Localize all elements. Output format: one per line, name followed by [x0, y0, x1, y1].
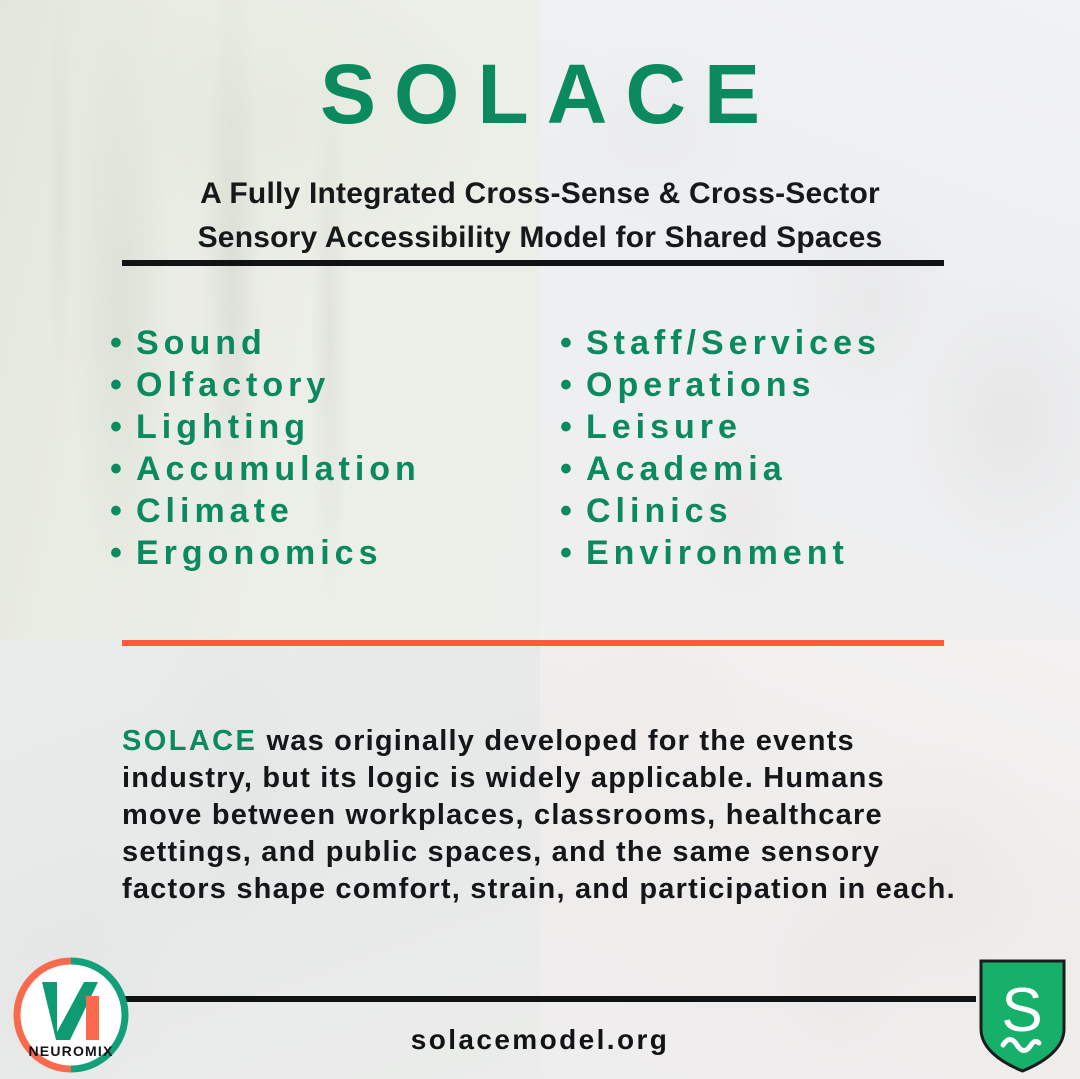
neuromix-logo[interactable]: NEUROMIX: [12, 956, 130, 1074]
neuromix-logo-icon: NEUROMIX: [12, 956, 130, 1074]
list-item-label: Accumulation: [136, 448, 421, 490]
website-url[interactable]: solacemodel.org: [0, 1024, 1080, 1056]
shield-icon: S: [975, 955, 1070, 1075]
list-item: • Lighting: [110, 406, 560, 448]
neuromix-wordmark: NEUROMIX: [28, 1043, 113, 1059]
sensory-factors-column: • Sound • Olfactory • Lighting • Accumul…: [110, 322, 560, 574]
list-item-label: Academia: [586, 448, 787, 490]
list-item-label: Climate: [136, 490, 294, 532]
body-paragraph: SOLACE was originally developed for the …: [122, 723, 962, 908]
bullet-icon: •: [110, 322, 136, 364]
list-item: • Environment: [560, 532, 980, 574]
list-item-label: Staff/Services: [586, 322, 881, 364]
bullet-icon: •: [560, 448, 586, 490]
list-item: • Staff/Services: [560, 322, 980, 364]
list-item-label: Leisure: [586, 406, 742, 448]
list-item: • Sound: [110, 322, 560, 364]
bullet-icon: •: [110, 532, 136, 574]
solace-shield-logo[interactable]: S: [975, 955, 1070, 1075]
bullet-icon: •: [110, 406, 136, 448]
bullet-icon: •: [110, 490, 136, 532]
bullet-icon: •: [560, 532, 586, 574]
subtitle-line-2: Sensory Accessibility Model for Shared S…: [118, 216, 962, 260]
bullet-icon: •: [560, 364, 586, 406]
bullet-icon: •: [110, 448, 136, 490]
list-item: • Clinics: [560, 490, 980, 532]
list-item: • Leisure: [560, 406, 980, 448]
list-item: • Operations: [560, 364, 980, 406]
list-item-label: Sound: [136, 322, 267, 364]
subtitle-line-1: A Fully Integrated Cross-Sense & Cross-S…: [118, 172, 962, 216]
divider-bottom: [118, 996, 976, 1002]
shield-letter: S: [1001, 976, 1042, 1045]
list-item-label: Operations: [586, 364, 815, 406]
list-item-label: Olfactory: [136, 364, 330, 406]
list-item: • Accumulation: [110, 448, 560, 490]
list-item-label: Environment: [586, 532, 849, 574]
divider-orange: [122, 640, 944, 646]
bullet-icon: •: [110, 364, 136, 406]
list-item: • Academia: [560, 448, 980, 490]
category-columns: • Sound • Olfactory • Lighting • Accumul…: [110, 322, 990, 574]
page-title: SOLACE: [0, 52, 1080, 136]
list-item: • Ergonomics: [110, 532, 560, 574]
list-item-label: Clinics: [586, 490, 732, 532]
list-item: • Climate: [110, 490, 560, 532]
divider-top: [122, 260, 944, 266]
poster-content: SOLACE A Fully Integrated Cross-Sense & …: [0, 0, 1080, 1079]
bullet-icon: •: [560, 406, 586, 448]
body-lead-word: SOLACE: [122, 725, 257, 757]
list-item: • Olfactory: [110, 364, 560, 406]
list-item-label: Lighting: [136, 406, 310, 448]
sectors-column: • Staff/Services • Operations • Leisure …: [560, 322, 980, 574]
bullet-icon: •: [560, 322, 586, 364]
page-subtitle: A Fully Integrated Cross-Sense & Cross-S…: [118, 172, 962, 259]
list-item-label: Ergonomics: [136, 532, 382, 574]
poster: SOLACE A Fully Integrated Cross-Sense & …: [0, 0, 1080, 1079]
bullet-icon: •: [560, 490, 586, 532]
